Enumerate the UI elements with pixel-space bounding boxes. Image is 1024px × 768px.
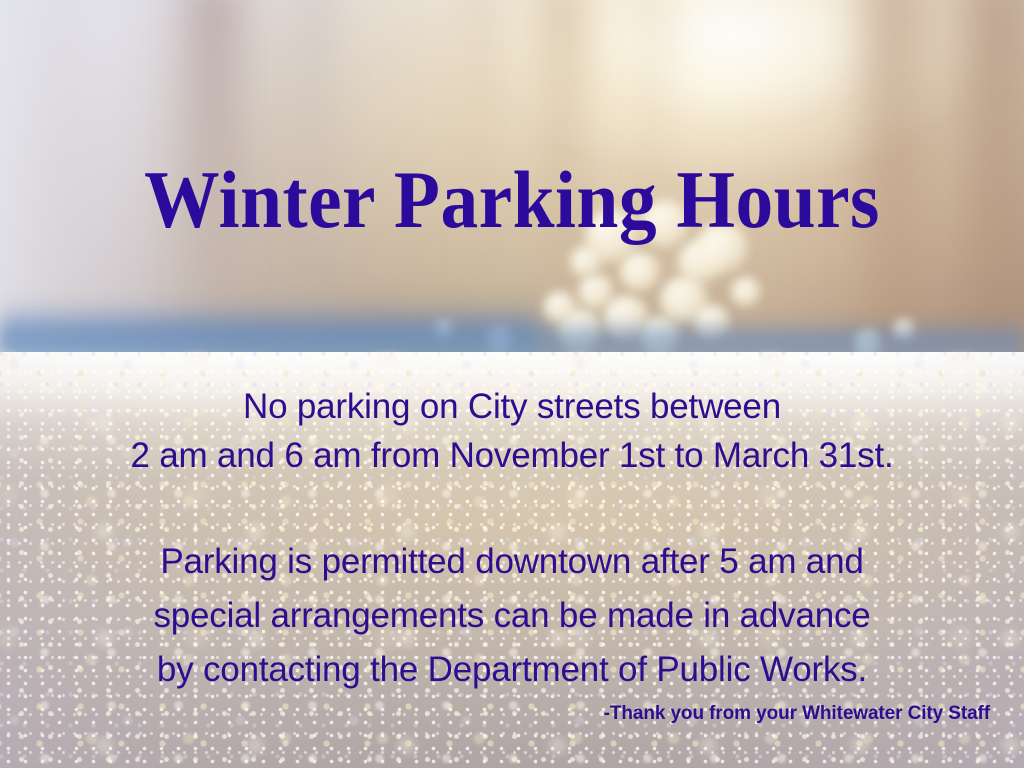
page-title: Winter Parking Hours bbox=[41, 159, 983, 241]
parking-restriction-paragraph: No parking on City streets between 2 am … bbox=[0, 382, 1024, 480]
paragraph-line: special arrangements can be made in adva… bbox=[0, 589, 1024, 643]
signature-line: -Thank you from your Whitewater City Sta… bbox=[0, 703, 990, 725]
downtown-parking-paragraph: Parking is permitted downtown after 5 am… bbox=[0, 535, 1024, 697]
paragraph-line: No parking on City streets between bbox=[0, 382, 1024, 431]
paragraph-line: by contacting the Department of Public W… bbox=[0, 643, 1024, 697]
paragraph-line: 2 am and 6 am from November 1st to March… bbox=[0, 431, 1024, 480]
poster-content: Winter Parking Hours No parking on City … bbox=[0, 0, 1024, 768]
winter-parking-poster: Winter Parking Hours No parking on City … bbox=[0, 0, 1024, 768]
paragraph-line: Parking is permitted downtown after 5 am… bbox=[0, 535, 1024, 589]
